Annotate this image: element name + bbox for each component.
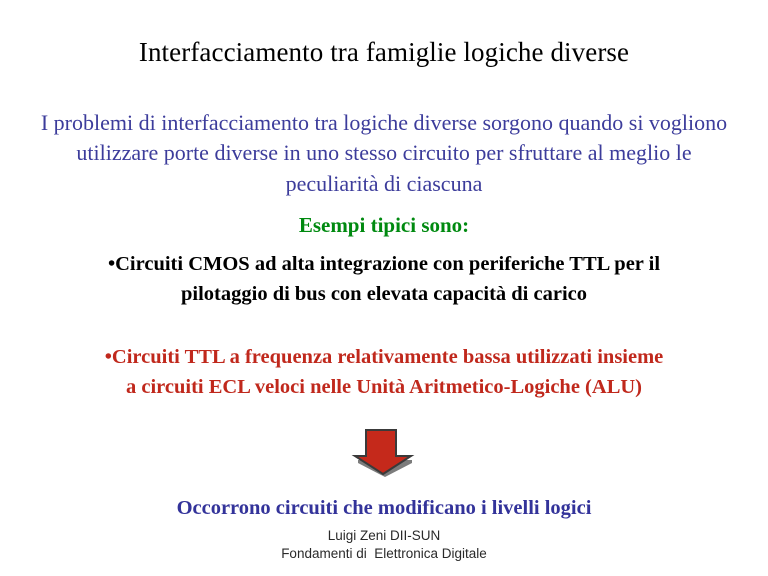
bullet-item-cmos: •Circuiti CMOS ad alta integrazione con … — [0, 250, 768, 309]
down-arrow-graphic — [350, 427, 416, 477]
intro-paragraph: I problemi di interfacciamento tra logic… — [28, 108, 740, 199]
bullet-item-ttl-ecl-line-1: •Circuiti TTL a frequenza relativamente … — [0, 343, 768, 373]
presentation-slide: Interfacciamento tra famiglie logiche di… — [0, 0, 768, 576]
section-heading-examples: Esempi tipici sono: — [0, 213, 768, 238]
bullet-item-ttl-ecl-line-2: a circuiti ECL veloci nelle Unità Aritme… — [0, 373, 768, 403]
slide-footer: Luigi Zeni DII-SUN Fondamenti di Elettro… — [0, 527, 768, 562]
bullet-item-cmos-line-2: pilotaggio di bus con elevata capacità d… — [0, 280, 768, 310]
bullet-item-ttl-ecl: •Circuiti TTL a frequenza relativamente … — [0, 343, 768, 402]
footer-author: Luigi Zeni DII-SUN — [0, 527, 768, 545]
down-arrow-icon — [350, 427, 416, 477]
page-title: Interfacciamento tra famiglie logiche di… — [0, 38, 768, 68]
bullet-item-cmos-line-1: •Circuiti CMOS ad alta integrazione con … — [0, 250, 768, 280]
footer-course: Fondamenti di Elettronica Digitale — [0, 545, 768, 563]
conclusion-text: Occorrono circuiti che modificano i live… — [0, 496, 768, 521]
